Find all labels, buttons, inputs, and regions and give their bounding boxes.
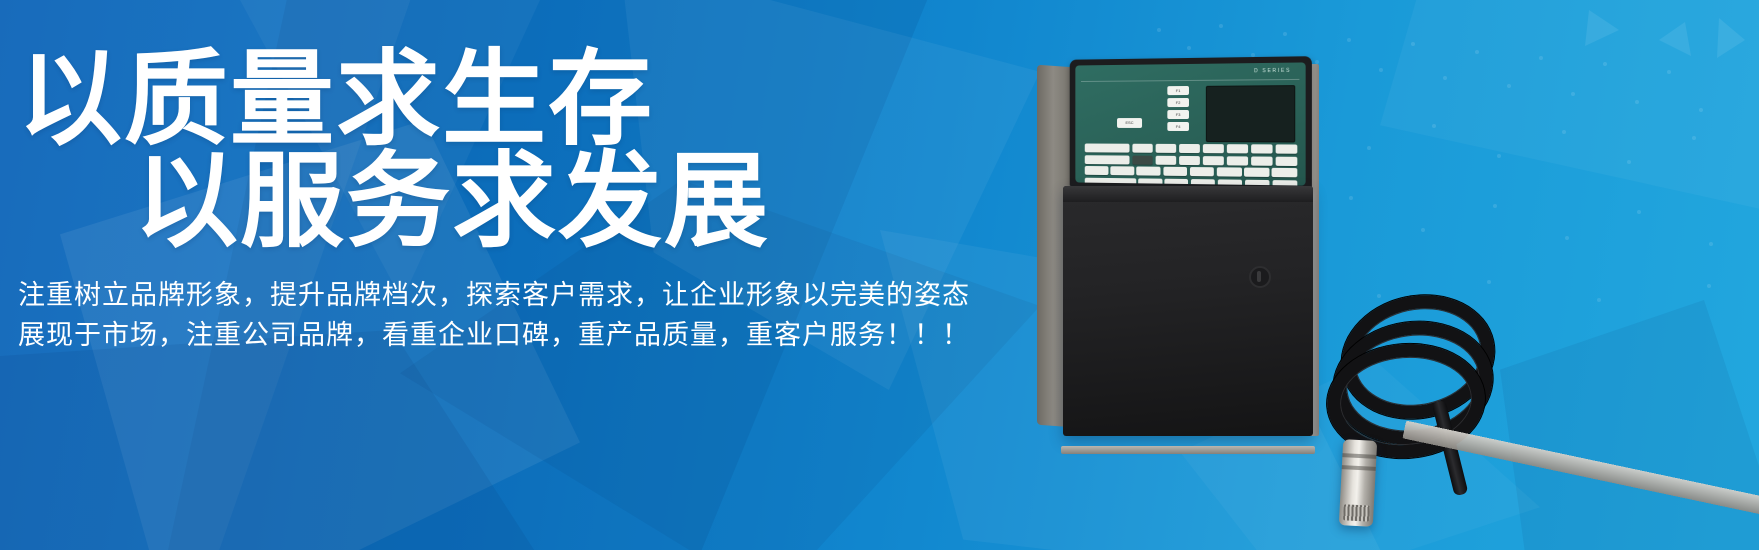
printer-main-body [1063, 186, 1313, 436]
headline-line-2: 以服务求发展 [18, 154, 998, 248]
printer-keyboard-row [1085, 166, 1298, 177]
printer-body-top-edge [1063, 186, 1313, 202]
printer-key[interactable] [1226, 144, 1248, 153]
printer-key-f1[interactable]: F1 [1167, 86, 1189, 95]
printer-panel-face: D SERIES F1 F2 F3 F4 ESC [1075, 62, 1305, 185]
printer-key[interactable] [1244, 168, 1269, 177]
printer-key-shift[interactable] [1085, 177, 1136, 185]
printer-keyboard [1085, 144, 1298, 180]
print-head-band [1342, 453, 1376, 459]
printer-keyboard-row [1085, 155, 1298, 166]
product-image-inkjet-printer: D SERIES F1 F2 F3 F4 ESC [1015, 48, 1345, 448]
printer-key[interactable] [1245, 179, 1270, 185]
printer-key[interactable] [1226, 156, 1248, 165]
banner-text-block: 以质量求生存 以服务求发展 注重树立品牌形象，提升品牌档次，探索客户需求，让企业… [18, 52, 998, 356]
printer-lcd-screen [1206, 85, 1295, 142]
printer-key-f2[interactable]: F2 [1167, 98, 1189, 107]
printer-key-ctrl[interactable] [1085, 166, 1108, 175]
headline: 以质量求生存 以服务求发展 [18, 52, 998, 248]
printer-key-arrow[interactable] [1132, 155, 1153, 164]
printer-key-esc[interactable]: ESC [1117, 118, 1142, 128]
printer-keyboard-row [1085, 144, 1298, 154]
printer-key[interactable] [1191, 179, 1215, 186]
printer-function-key-group: F1 F2 F3 F4 [1167, 86, 1189, 134]
printer-key-f3[interactable]: F3 [1167, 110, 1189, 119]
printer-base-plate [1061, 446, 1315, 454]
promo-banner: 以质量求生存 以服务求发展 注重树立品牌形象，提升品牌档次，探索客户需求，让企业… [0, 0, 1759, 550]
printer-key[interactable] [1179, 144, 1200, 153]
printer-keyboard-row [1085, 177, 1298, 185]
printer-key[interactable] [1190, 167, 1215, 176]
printer-brand-bar: D SERIES [1081, 68, 1299, 82]
printer-key[interactable] [1164, 178, 1188, 185]
printer-key-caps[interactable] [1085, 155, 1130, 164]
subtext-line-2: 展现于市场，注重公司品牌，看重企业口碑，重产品质量，重客户服务！！！ [18, 316, 998, 356]
printer-key[interactable] [1137, 166, 1161, 175]
printer-key[interactable] [1203, 144, 1224, 153]
printer-key[interactable] [1179, 155, 1200, 164]
printer-key-alt[interactable] [1111, 166, 1135, 175]
printer-key[interactable] [1217, 167, 1242, 176]
subtext-line-1: 注重树立品牌形象，提升品牌档次，探索客户需求，让企业形象以完美的姿态 [18, 276, 998, 316]
printer-key[interactable] [1275, 144, 1297, 153]
headline-line-1: 以质量求生存 [18, 52, 998, 146]
print-head-nozzle [1343, 504, 1370, 521]
printer-control-panel: D SERIES F1 F2 F3 F4 ESC [1070, 56, 1312, 190]
printer-key[interactable] [1251, 144, 1273, 153]
printer-key[interactable] [1275, 156, 1297, 165]
printer-key-enter[interactable] [1085, 144, 1130, 153]
printer-key[interactable] [1138, 178, 1162, 186]
printer-key[interactable] [1155, 155, 1176, 164]
printer-key-f4[interactable]: F4 [1167, 122, 1189, 131]
printer-print-head [1339, 439, 1377, 527]
subtext: 注重树立品牌形象，提升品牌档次，探索客户需求，让企业形象以完美的姿态 展现于市场… [18, 276, 998, 356]
printer-key[interactable] [1132, 144, 1153, 153]
printer-brand-label: D SERIES [1254, 68, 1291, 75]
printer-key[interactable] [1251, 156, 1273, 165]
printer-door-latch-icon[interactable] [1249, 266, 1271, 288]
printer-key[interactable] [1163, 167, 1187, 176]
printer-key[interactable] [1155, 144, 1176, 153]
printer-key[interactable] [1218, 179, 1243, 186]
print-head-band [1342, 465, 1376, 471]
printer-key[interactable] [1272, 168, 1297, 177]
printer-key[interactable] [1272, 180, 1297, 186]
printer-key[interactable] [1203, 156, 1224, 165]
